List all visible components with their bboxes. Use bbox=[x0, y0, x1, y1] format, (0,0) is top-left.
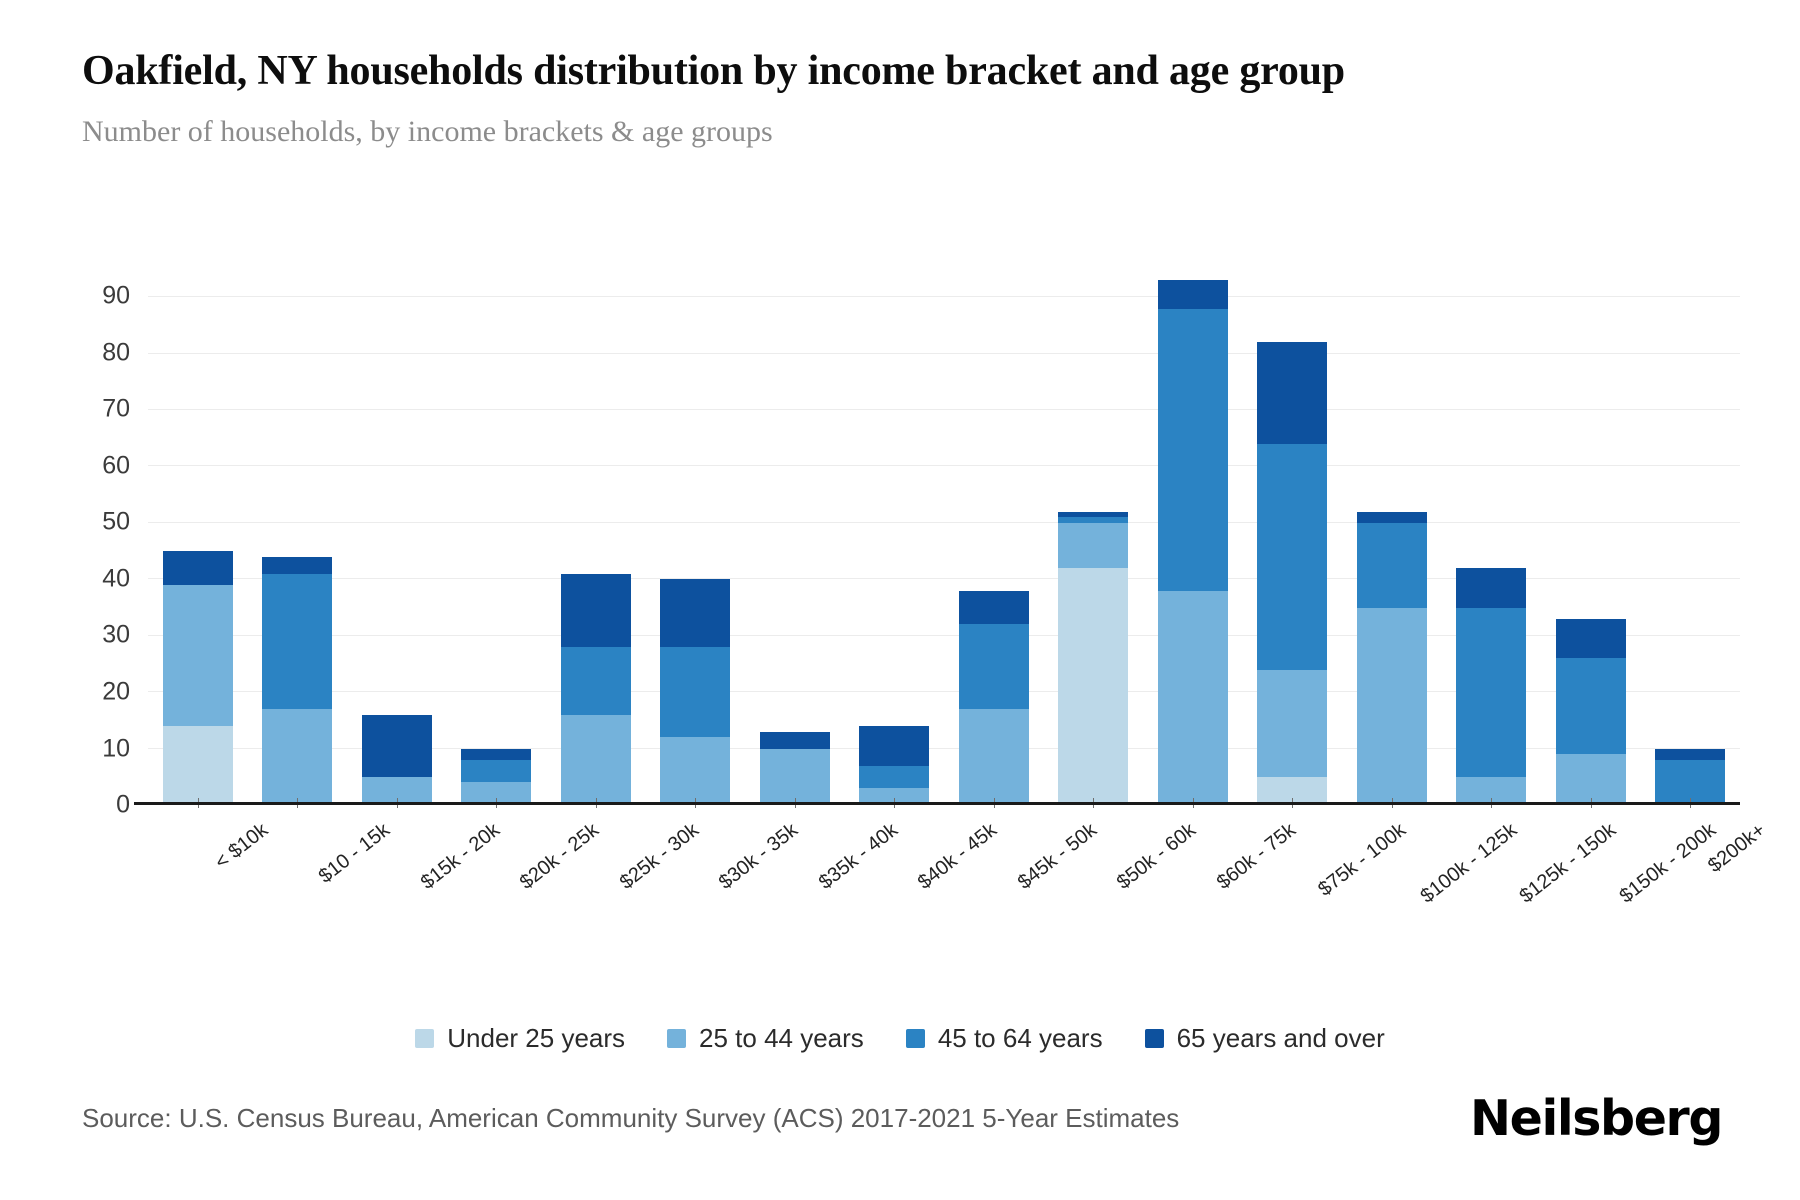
bar-segment[interactable] bbox=[1357, 523, 1427, 608]
y-axis-tick-label: 10 bbox=[102, 734, 130, 763]
x-axis-tick-label: $10 - 15k bbox=[315, 819, 395, 888]
x-axis-tick-label: $25k - 30k bbox=[616, 819, 704, 895]
y-axis-tick-label: 90 bbox=[102, 282, 130, 311]
legend-swatch-icon bbox=[415, 1029, 434, 1048]
bar-segment[interactable] bbox=[760, 732, 830, 749]
stacked-bar[interactable] bbox=[1456, 568, 1526, 805]
stacked-bar[interactable] bbox=[163, 551, 233, 805]
bar-group[interactable]: $40k - 45k bbox=[845, 269, 945, 805]
bar-group[interactable]: $100k - 125k bbox=[1342, 269, 1442, 805]
brand-logo: Neilsberg bbox=[1470, 1090, 1722, 1147]
stacked-bar[interactable] bbox=[859, 726, 929, 805]
bar-segment[interactable] bbox=[1058, 568, 1128, 805]
bar-segment[interactable] bbox=[1058, 523, 1128, 568]
stacked-bar[interactable] bbox=[561, 574, 631, 805]
bar-segment[interactable] bbox=[163, 726, 233, 805]
bar-segment[interactable] bbox=[1556, 658, 1626, 754]
x-axis-tick-label: $35k - 40k bbox=[815, 819, 903, 895]
chart-plot-wrapper: 0102030405060708090 < $10k$10 - 15k$15k … bbox=[0, 255, 1800, 895]
bar-segment[interactable] bbox=[262, 574, 332, 709]
legend-item[interactable]: 65 years and over bbox=[1145, 1023, 1385, 1054]
bar-segment[interactable] bbox=[1158, 280, 1228, 308]
y-axis-tick-label: 60 bbox=[102, 451, 130, 480]
bar-segment[interactable] bbox=[660, 737, 730, 805]
bar-group[interactable]: $45k - 50k bbox=[944, 269, 1044, 805]
legend-item[interactable]: 45 to 64 years bbox=[906, 1023, 1103, 1054]
legend-swatch-icon bbox=[667, 1029, 686, 1048]
bar-group[interactable]: $15k - 20k bbox=[347, 269, 447, 805]
bar-segment[interactable] bbox=[1357, 608, 1427, 805]
bar-group[interactable]: $10 - 15k bbox=[248, 269, 348, 805]
y-axis-tick-label: 40 bbox=[102, 564, 130, 593]
bar-segment[interactable] bbox=[561, 574, 631, 647]
legend-item[interactable]: 25 to 44 years bbox=[667, 1023, 864, 1054]
bar-segment[interactable] bbox=[1257, 670, 1327, 777]
x-axis-tick-label: $30k - 35k bbox=[715, 819, 803, 895]
bar-segment[interactable] bbox=[1257, 444, 1327, 670]
bar-segment[interactable] bbox=[959, 624, 1029, 709]
stacked-bar[interactable] bbox=[461, 749, 531, 805]
bar-segment[interactable] bbox=[163, 585, 233, 726]
bar-segment[interactable] bbox=[959, 591, 1029, 625]
bar-segment[interactable] bbox=[262, 557, 332, 574]
stacked-bar[interactable] bbox=[1058, 512, 1128, 805]
x-axis-tick-label: $75k - 100k bbox=[1314, 819, 1411, 901]
x-axis-tick-label: $15k - 20k bbox=[417, 819, 505, 895]
bar-group[interactable]: $60k - 75k bbox=[1143, 269, 1243, 805]
x-axis-tick-label: $40k - 45k bbox=[914, 819, 1002, 895]
chart-footer: Source: U.S. Census Bureau, American Com… bbox=[82, 1090, 1722, 1147]
y-axis-tick-label: 80 bbox=[102, 338, 130, 367]
stacked-bar[interactable] bbox=[1158, 280, 1228, 805]
bar-segment[interactable] bbox=[1257, 342, 1327, 444]
bar-group[interactable]: $150k - 200k bbox=[1541, 269, 1641, 805]
bar-group[interactable]: $35k - 40k bbox=[745, 269, 845, 805]
y-axis-tick-label: 30 bbox=[102, 621, 130, 650]
legend-item[interactable]: Under 25 years bbox=[415, 1023, 625, 1054]
y-axis-tick-label: 70 bbox=[102, 395, 130, 424]
stacked-bar[interactable] bbox=[1357, 512, 1427, 805]
x-axis-tick-label: < $10k bbox=[211, 819, 273, 874]
bar-group[interactable]: $75k - 100k bbox=[1243, 269, 1343, 805]
bar-segment[interactable] bbox=[1456, 608, 1526, 777]
bar-group[interactable]: $200k+ bbox=[1641, 269, 1741, 805]
legend-label: 25 to 44 years bbox=[699, 1023, 864, 1054]
bar-segment[interactable] bbox=[1158, 591, 1228, 805]
legend-label: 45 to 64 years bbox=[938, 1023, 1103, 1054]
y-axis-tick-label: 0 bbox=[116, 791, 130, 820]
bar-segment[interactable] bbox=[1357, 512, 1427, 523]
bar-group[interactable]: $25k - 30k bbox=[546, 269, 646, 805]
bar-segment[interactable] bbox=[760, 749, 830, 805]
x-axis-tick-label: $45k - 50k bbox=[1014, 819, 1102, 895]
bar-segment[interactable] bbox=[461, 749, 531, 760]
bar-segment[interactable] bbox=[561, 715, 631, 805]
stacked-bar[interactable] bbox=[760, 732, 830, 805]
stacked-bar[interactable] bbox=[1655, 749, 1725, 805]
bar-segment[interactable] bbox=[163, 551, 233, 585]
bar-group[interactable]: $30k - 35k bbox=[646, 269, 746, 805]
chart-legend: Under 25 years25 to 44 years45 to 64 yea… bbox=[0, 1023, 1800, 1054]
legend-label: 65 years and over bbox=[1177, 1023, 1385, 1054]
x-axis-line bbox=[134, 802, 1740, 805]
bar-segment[interactable] bbox=[959, 709, 1029, 805]
bar-segment[interactable] bbox=[859, 726, 929, 765]
x-axis-tick-label: $50k - 60k bbox=[1113, 819, 1201, 895]
bar-segment[interactable] bbox=[561, 647, 631, 715]
stacked-bar[interactable] bbox=[262, 557, 332, 805]
bar-segment[interactable] bbox=[660, 647, 730, 737]
bar-group[interactable]: $125k - 150k bbox=[1442, 269, 1542, 805]
stacked-bar[interactable] bbox=[660, 579, 730, 805]
x-axis-tick-label: $100k - 125k bbox=[1416, 819, 1521, 908]
source-note: Source: U.S. Census Bureau, American Com… bbox=[82, 1103, 1179, 1134]
x-axis-tick-label: $150k - 200k bbox=[1615, 819, 1720, 908]
y-axis-tick-label: 20 bbox=[102, 677, 130, 706]
y-axis-tick-label: 50 bbox=[102, 508, 130, 537]
bar-segment[interactable] bbox=[262, 709, 332, 805]
legend-swatch-icon bbox=[906, 1029, 925, 1048]
bar-segment[interactable] bbox=[859, 766, 929, 789]
bar-group[interactable]: $20k - 25k bbox=[447, 269, 547, 805]
bar-segment[interactable] bbox=[1556, 619, 1626, 658]
legend-swatch-icon bbox=[1145, 1029, 1164, 1048]
bar-segment[interactable] bbox=[1158, 309, 1228, 591]
bar-segment[interactable] bbox=[660, 579, 730, 647]
legend-label: Under 25 years bbox=[447, 1023, 625, 1054]
stacked-bar[interactable] bbox=[362, 715, 432, 805]
bar-series-group: < $10k$10 - 15k$15k - 20k$20k - 25k$25k … bbox=[148, 269, 1740, 805]
bar-group[interactable]: < $10k bbox=[148, 269, 248, 805]
bar-segment[interactable] bbox=[461, 760, 531, 783]
x-axis-tick-label: $60k - 75k bbox=[1213, 819, 1301, 895]
chart-header: Oakfield, NY households distribution by … bbox=[82, 46, 1602, 149]
bar-group[interactable]: $50k - 60k bbox=[1044, 269, 1144, 805]
x-axis-tick-label: $20k - 25k bbox=[516, 819, 604, 895]
stacked-bar[interactable] bbox=[959, 591, 1029, 805]
bar-segment[interactable] bbox=[362, 715, 432, 777]
stacked-bar[interactable] bbox=[1556, 619, 1626, 805]
plot-area: 0102030405060708090 < $10k$10 - 15k$15k … bbox=[148, 269, 1740, 805]
page-title: Oakfield, NY households distribution by … bbox=[82, 46, 1582, 97]
chart-subtitle: Number of households, by income brackets… bbox=[82, 115, 1602, 149]
x-axis-tick-label: $125k - 150k bbox=[1516, 819, 1621, 908]
bar-segment[interactable] bbox=[1655, 749, 1725, 760]
bar-segment[interactable] bbox=[1456, 568, 1526, 607]
stacked-bar[interactable] bbox=[1257, 342, 1327, 805]
